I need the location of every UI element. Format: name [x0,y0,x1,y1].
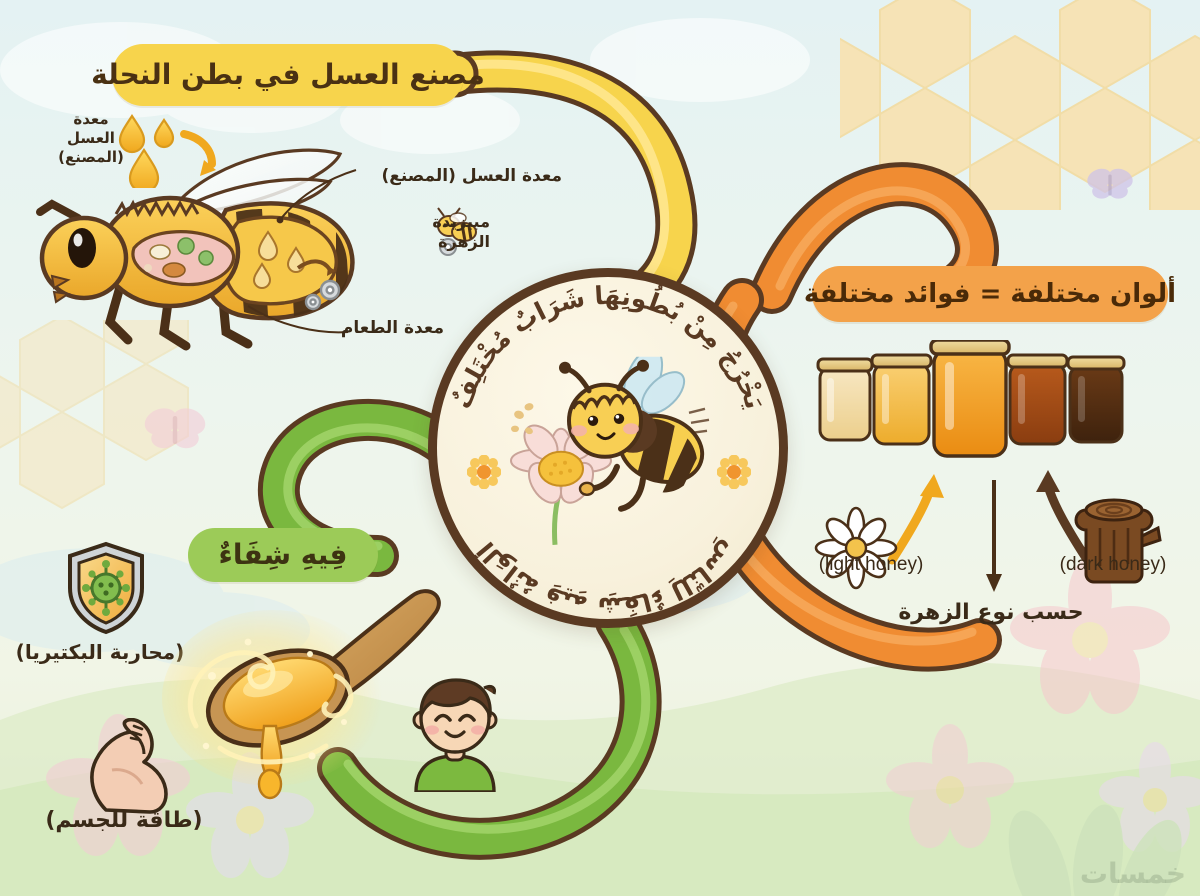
honey-jar-1 [818,359,872,440]
branch-label-healing[interactable]: فِيهِ شِفَاءٌ [188,528,378,582]
annotation-honey-stomach-right: معدة العسل (المصنع) [352,166,562,187]
anno-line: مبيزيدة [388,212,490,232]
anno-line: الزهرة [388,232,490,252]
honey-jar-4 [1008,355,1067,444]
anno-line: (المصنع) [56,148,126,167]
label-dark-honey: (dark honey) [1048,554,1178,576]
label-light-honey: (light honey) [806,554,936,576]
branch-label-different-colors[interactable]: ألوان مختلفة = فوائد مختلفة [812,266,1168,322]
honey-jar-3 [931,340,1009,456]
annotation-flower-mixer: مبيزيدة الزهرة [388,212,490,252]
watermark: خمسات [1080,857,1186,890]
bee-on-daisy-illustration [493,357,723,547]
label-depends-on-flower: حسب نوع الزهرة [886,600,1096,625]
honey-jar-5 [1068,357,1124,442]
anno-line: معدة [56,110,126,129]
smiling-boy-icon [400,672,510,792]
infographic-canvas: مصنع العسل في بطن النحلة ألوان مختلفة = … [0,0,1200,896]
center-medallion: يَخْرُجُ مِنْ بُطُونِهَا شَرَابٌ مُخْتَل… [428,268,788,628]
annotation-food-stomach: معدة الطعام [322,318,444,339]
annotation-honey-stomach-left: معدة العسل (المصنع) [56,110,126,166]
daisy-flower-icon [816,508,896,588]
honey-jar-2 [872,355,931,444]
label-energy: (طاقة للجسم) [34,808,214,833]
branch-label-honey-factory[interactable]: مصنع العسل في بطن النحلة [112,44,464,106]
anno-line: العسل [56,129,126,148]
shield-virus-icon [62,540,150,636]
honey-jars-group [812,340,1160,475]
honey-source-arrows [800,470,1180,620]
